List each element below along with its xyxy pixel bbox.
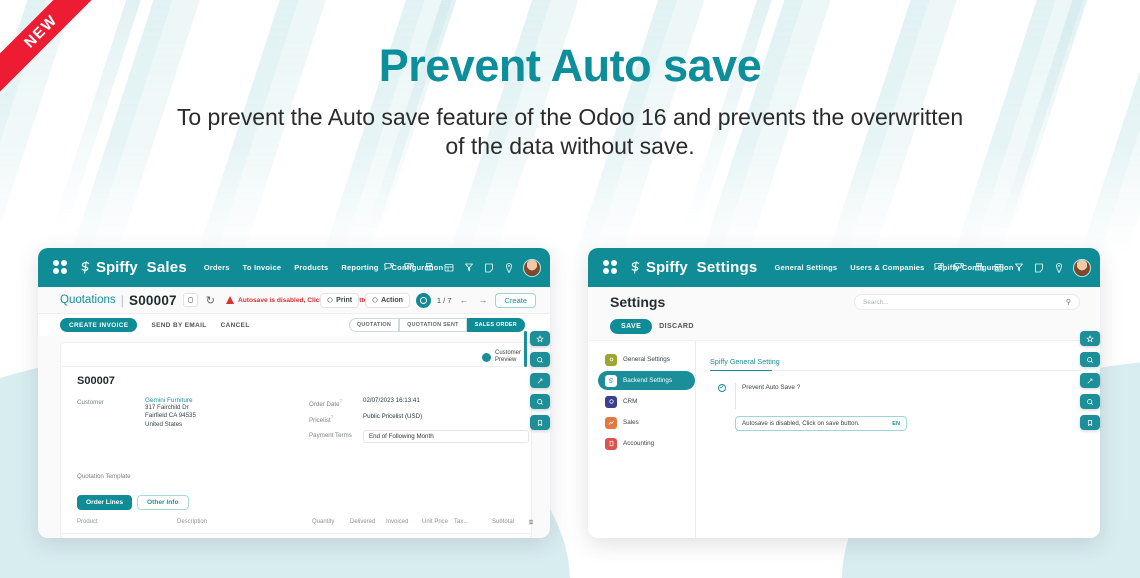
tab-order-lines[interactable]: Order Lines: [77, 495, 132, 510]
apps-icon[interactable]: [443, 262, 455, 274]
activity-icon[interactable]: [403, 262, 415, 274]
customer-address-line1: 317 Fairchild Dr: [145, 404, 196, 412]
brand-label: Spiffy: [646, 259, 688, 276]
hero-subtitle: To prevent the Auto save feature of the …: [170, 103, 970, 161]
crm-icon: [605, 396, 617, 408]
nav-link-users-companies[interactable]: Users & Companies: [850, 263, 924, 272]
spiffy-logo-icon: [628, 260, 643, 275]
send-by-email-button[interactable]: SEND BY EMAIL: [151, 322, 206, 329]
left-panel-drawer-handle[interactable]: [524, 331, 527, 367]
prevent-auto-save-option: ✓ Prevent Auto Save ?: [710, 383, 1082, 409]
settings-sidebar: General Settings Backend Settings CRM: [588, 341, 696, 538]
settings-screenshot-panel: Spiffy Settings General Settings Users &…: [588, 248, 1100, 538]
search-input[interactable]: Search... ⚲: [854, 294, 1080, 310]
zoom-icon[interactable]: [1080, 394, 1100, 409]
stage-quotation[interactable]: QUOTATION: [349, 318, 399, 332]
record-status-icon[interactable]: [416, 293, 431, 308]
breadcrumb-root[interactable]: Quotations: [60, 294, 116, 306]
apps-grid-icon[interactable]: [53, 260, 68, 275]
print-label: Print: [336, 297, 352, 304]
customer-preview-icon: [482, 353, 491, 362]
gear-icon: [372, 297, 378, 303]
accounting-icon: [605, 438, 617, 450]
order-date-label: Order Date?: [309, 397, 363, 408]
section-tab-spiffy-general-setting[interactable]: Spiffy General Setting: [710, 357, 780, 370]
th-quantity: Quantity: [312, 519, 350, 525]
bookmark-icon[interactable]: [1080, 415, 1100, 430]
sales-icon: [605, 417, 617, 429]
record-sheet: Customer Preview S00007 Customer Gemini …: [60, 342, 532, 538]
note-icon[interactable]: [483, 262, 495, 274]
nav-link-to-invoice[interactable]: To Invoice: [243, 263, 282, 272]
zoom-icon[interactable]: [530, 394, 550, 409]
nav-link-orders[interactable]: Orders: [204, 263, 230, 272]
sidebar-label-crm: CRM: [623, 398, 637, 405]
record-sheet-wrapper: Customer Preview S00007 Customer Gemini …: [38, 336, 550, 538]
action-label: Action: [381, 297, 403, 304]
app-name-label: Sales: [147, 259, 187, 276]
avatar[interactable]: [1073, 259, 1091, 277]
expand-icon[interactable]: [1080, 373, 1100, 388]
settings-navbar-icons: [933, 259, 1091, 277]
customer-field-label: Customer: [77, 397, 145, 429]
print-small-icon: [327, 297, 333, 303]
search-icon[interactable]: [530, 352, 550, 367]
sheet-divider: [61, 366, 531, 367]
sales-navbar: Spiffy Sales Orders To Invoice Products …: [38, 248, 550, 287]
customer-preview-button[interactable]: Customer Preview: [482, 350, 521, 364]
quotation-template-label: Quotation Template: [77, 473, 131, 480]
fields-right-column: Order Date? 02/07/2023 16:13:41 Pricelis…: [309, 397, 537, 446]
nav-link-products[interactable]: Products: [294, 263, 328, 272]
settings-body: General Settings Backend Settings CRM: [588, 340, 1100, 538]
customer-field-value[interactable]: Gemini Furniture: [145, 397, 196, 404]
bookmark-icon[interactable]: [530, 415, 550, 430]
save-button[interactable]: SAVE: [610, 319, 652, 334]
prevent-auto-save-checkbox[interactable]: ✓: [718, 384, 726, 392]
settings-navbar: Spiffy Settings General Settings Users &…: [588, 248, 1100, 287]
fields-left-column: Customer Gemini Furniture 317 Fairchild …: [77, 397, 309, 446]
page-title: Settings: [610, 294, 665, 310]
sales-screenshot-panel: Spiffy Sales Orders To Invoice Products …: [38, 248, 550, 538]
sidebar-label-backend-settings: Backend Settings: [623, 377, 672, 384]
table-settings-icon[interactable]: [528, 519, 534, 525]
print-icon[interactable]: [973, 262, 985, 274]
expand-icon[interactable]: [530, 373, 550, 388]
sidebar-item-sales[interactable]: Sales: [598, 413, 695, 432]
print-button[interactable]: Print: [320, 293, 359, 308]
nav-link-general-settings[interactable]: General Settings: [774, 263, 837, 272]
brand-label: Spiffy: [96, 259, 138, 276]
th-subtotal: Subtotal: [492, 519, 526, 525]
prevent-auto-save-label: Prevent Auto Save ?: [742, 383, 800, 391]
spiffy-brand[interactable]: Spiffy: [78, 259, 138, 276]
breadcrumb-separator: |: [121, 293, 124, 308]
general-settings-icon: [605, 354, 617, 366]
record-title: S00007: [77, 375, 115, 387]
pricelist-value[interactable]: Public Pricelist (USD): [363, 413, 422, 424]
language-tag[interactable]: EN: [892, 421, 900, 427]
left-panel-float-buttons: [530, 331, 550, 430]
apps-icon[interactable]: [993, 262, 1005, 274]
stage-sales-order[interactable]: SALES ORDER: [467, 318, 525, 332]
record-control-row: Quotations | S00007 ↻ Autosave is disabl…: [38, 287, 550, 313]
sales-navbar-icons: [383, 259, 541, 277]
payment-terms-label: Payment Terms: [309, 430, 363, 443]
spiffy-logo-icon: [78, 260, 93, 275]
pager-next-button[interactable]: →: [476, 295, 489, 305]
apps-grid-icon[interactable]: [603, 260, 618, 275]
location-icon[interactable]: [1053, 262, 1065, 274]
th-delivered: Delivered: [350, 519, 386, 525]
avatar[interactable]: [523, 259, 541, 277]
autosave-message-value: Autosave is disabled, Click on save butt…: [742, 420, 860, 427]
customer-preview-line1: Customer: [495, 350, 521, 356]
app-name-label: Settings: [697, 259, 758, 276]
pricelist-label: Pricelist?: [309, 413, 363, 424]
order-date-label-text: Order Date: [309, 401, 340, 408]
table-header-divider: [61, 533, 531, 534]
sidebar-item-general-settings[interactable]: General Settings: [598, 350, 695, 369]
search-placeholder: Search...: [863, 299, 889, 306]
star-icon[interactable]: [1080, 331, 1100, 346]
status-stages: QUOTATION QUOTATION SENT SALES ORDER: [349, 318, 525, 332]
th-unit-price: Unit Price: [422, 519, 454, 525]
record-fields: Customer Gemini Furniture 317 Fairchild …: [77, 397, 537, 446]
breadcrumb-current: S00007: [129, 293, 177, 308]
settings-header: Settings Search... ⚲: [588, 287, 1100, 317]
sidebar-label-accounting: Accounting: [623, 440, 654, 447]
record-statusbar-row: CREATE INVOICE SEND BY EMAIL CANCEL QUOT…: [38, 313, 550, 336]
create-button[interactable]: Create: [495, 293, 536, 308]
customer-address-line3: United States: [145, 421, 196, 429]
hero-title: Prevent Auto save: [0, 40, 1140, 92]
order-lines-table-header: Product Description Quantity Delivered I…: [77, 519, 539, 525]
right-panel-float-buttons: [1080, 331, 1100, 430]
record-control-right: Print Action 1 / 7 ← → Create: [320, 293, 536, 308]
print-icon[interactable]: [423, 262, 435, 274]
attachment-icon[interactable]: [183, 293, 198, 307]
th-invoiced: Invoiced: [386, 519, 422, 525]
messages-icon[interactable]: [383, 262, 395, 274]
action-button[interactable]: Action: [365, 293, 410, 308]
discard-button[interactable]: DISCARD: [659, 323, 694, 330]
sidebar-label-sales: Sales: [623, 419, 639, 426]
section-tab-underline: [710, 370, 1082, 371]
star-icon[interactable]: [530, 331, 550, 346]
cancel-button[interactable]: CANCEL: [221, 322, 250, 329]
settings-action-row: SAVE DISCARD: [588, 317, 1100, 340]
customer-address-line2: Fairfield CA 94535: [145, 412, 196, 420]
sidebar-label-general-settings: General Settings: [623, 356, 670, 363]
sidebar-item-crm[interactable]: CRM: [598, 392, 695, 411]
nav-link-reporting[interactable]: Reporting: [341, 263, 378, 272]
customer-preview-line2: Preview: [495, 357, 516, 363]
messages-icon[interactable]: [933, 262, 945, 274]
pricelist-label-text: Pricelist: [309, 417, 331, 424]
pin-filter-icon[interactable]: [1013, 262, 1025, 274]
search-icon[interactable]: ⚲: [1066, 298, 1071, 306]
stage-quotation-sent[interactable]: QUOTATION SENT: [399, 318, 467, 332]
warning-triangle-icon: [226, 296, 234, 304]
th-product: Product: [77, 519, 177, 525]
note-icon[interactable]: [1033, 262, 1045, 274]
autosave-message-input[interactable]: Autosave is disabled, Click on save butt…: [735, 416, 907, 431]
option-separator: [735, 383, 736, 409]
undo-icon[interactable]: ↻: [206, 294, 215, 307]
activity-icon[interactable]: [953, 262, 965, 274]
search-icon[interactable]: [1080, 352, 1100, 367]
create-invoice-button[interactable]: CREATE INVOICE: [60, 318, 137, 332]
order-date-value: 02/07/2023 16:13:41: [363, 397, 420, 408]
pager-prev-button[interactable]: ←: [457, 295, 470, 305]
location-icon[interactable]: [503, 262, 515, 274]
tab-other-info[interactable]: Other Info: [137, 495, 189, 510]
sheet-tabs: Order Lines Other Info: [77, 495, 189, 510]
th-description: Description: [177, 519, 312, 525]
slide-canvas: NEW Prevent Auto save To prevent the Aut…: [0, 0, 1140, 578]
sidebar-item-accounting[interactable]: Accounting: [598, 434, 695, 453]
payment-terms-input[interactable]: End of Following Month: [363, 430, 529, 443]
th-tax: Tax...: [454, 519, 492, 525]
pager-label: 1 / 7: [437, 296, 452, 305]
spiffy-icon: [605, 375, 617, 387]
spiffy-brand[interactable]: Spiffy: [628, 259, 688, 276]
sidebar-item-backend-settings[interactable]: Backend Settings: [598, 371, 695, 390]
settings-main: Spiffy General Setting ✓ Prevent Auto Sa…: [696, 341, 1100, 538]
pin-filter-icon[interactable]: [463, 262, 475, 274]
